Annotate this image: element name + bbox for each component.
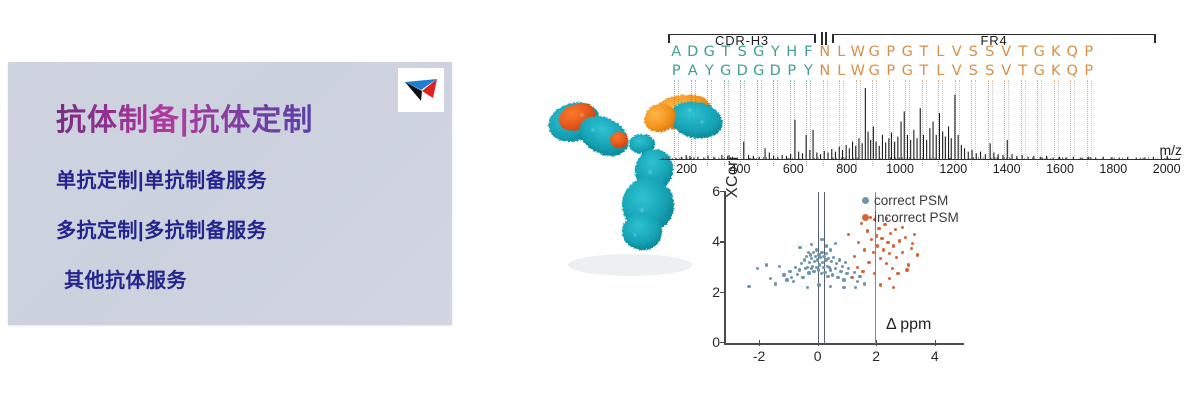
residue: W [850, 63, 867, 80]
residue: P [668, 63, 685, 80]
scatter-point-correct [841, 265, 844, 268]
scatter-point-correct [817, 268, 820, 271]
scatter-point-correct [844, 261, 847, 264]
xtick: 2 [872, 348, 880, 364]
scatter-point-incorrect [870, 238, 873, 241]
region-bracket-fr4: FR4 [832, 34, 1156, 44]
xtick: 1800 [1099, 162, 1127, 176]
scatter-point-correct [823, 271, 826, 274]
xtick: 1400 [993, 162, 1021, 176]
xtick: -2 [753, 348, 765, 364]
scatter-yticks: 0246 [690, 188, 720, 348]
xtick: 1000 [886, 162, 914, 176]
residue: D [767, 63, 784, 80]
scatter-point-correct [782, 273, 785, 276]
scatter-legend: correct PSM incorrect PSM [862, 192, 959, 226]
scatter-point-incorrect [904, 236, 907, 239]
scatter-point-correct [838, 258, 841, 261]
xtick: 4 [931, 348, 939, 364]
promo-item-monoclonal[interactable]: 单抗定制|单抗制备服务 [56, 169, 267, 193]
region-brackets: CDR-H3 FR4 [660, 18, 1180, 44]
promo-item-other-services[interactable]: 其他抗体服务 [64, 269, 187, 293]
residue: V [998, 44, 1015, 61]
scatter-point-correct [829, 268, 832, 271]
residue: D [734, 63, 751, 80]
residue: T [916, 63, 933, 80]
xtick: 1600 [1046, 162, 1074, 176]
scatter-plot: XCorr 0246 -2024 Δ ppm correct PSM incor… [690, 188, 970, 368]
scatter-point-correct [835, 262, 838, 265]
scatter-point-correct [769, 277, 772, 280]
ytick: 2 [712, 284, 720, 300]
residue: G [751, 63, 768, 80]
scatter-point-incorrect [911, 242, 914, 245]
scatter-point-incorrect [885, 262, 888, 265]
scatter-point-incorrect [898, 239, 901, 242]
scatter-point-correct [792, 280, 795, 283]
residue: P [1081, 63, 1098, 80]
scatter-point-correct [834, 267, 837, 270]
scatter-point-incorrect [889, 232, 892, 235]
scatter-point-correct [798, 268, 801, 271]
scatter-point-correct [785, 278, 788, 281]
residue: K [1048, 63, 1065, 80]
scatter-point-incorrect [856, 266, 859, 269]
residue: A [668, 44, 685, 61]
residue: T [916, 44, 933, 61]
scatter-point-correct [836, 276, 839, 279]
scatter-point-correct [806, 266, 809, 269]
legend-entry-correct: correct PSM [862, 192, 959, 209]
scatter-point-incorrect [916, 253, 919, 256]
scatter-point-correct [812, 270, 815, 273]
residue: S [982, 63, 999, 80]
legend-swatch-correct [862, 197, 869, 204]
scatter-point-incorrect [888, 277, 891, 280]
residue: G [701, 44, 718, 61]
xtick: 600 [783, 162, 804, 176]
residue: V [949, 44, 966, 61]
ytick: 6 [712, 183, 720, 199]
residue: Y [767, 44, 784, 61]
scatter-point-incorrect [879, 283, 882, 286]
sequence-alignment: CDR-H3 FR4 ADGTSGYHFNLWGPGTLVSSVTGKQP PA… [660, 18, 1180, 84]
page-title: 抗体制备|抗体定制 [56, 104, 313, 138]
mass-spectrum-plot: m/z [660, 84, 1180, 160]
scatter-point-incorrect [863, 248, 866, 251]
residue: F [800, 44, 817, 61]
scatter-point-correct [842, 278, 845, 281]
promo-item-polyclonal[interactable]: 多抗定制|多抗制备服务 [56, 219, 267, 243]
scatter-point-correct [805, 255, 808, 258]
scatter-point-correct [765, 263, 768, 266]
residue: G [751, 44, 768, 61]
scatter-point-correct [803, 258, 806, 261]
scatter-point-correct [810, 243, 813, 246]
scatter-point-incorrect [877, 227, 880, 230]
scatter-point-correct [834, 242, 837, 245]
scatter-point-correct [747, 285, 750, 288]
xtick: 800 [836, 162, 857, 176]
residue: S [734, 44, 751, 61]
scatter-point-correct [853, 271, 856, 274]
scatter-point-incorrect [886, 241, 889, 244]
residue: G [866, 44, 883, 61]
scatter-point-correct [830, 260, 833, 263]
residue: D [685, 44, 702, 61]
scatter-point-correct [808, 261, 811, 264]
scatter-xticks: -2024 [690, 346, 970, 366]
scatter-point-incorrect [901, 251, 904, 254]
sequence-row-2: PAYGDGDPYNLWGPGTLVSSVTGKQP [668, 63, 1097, 80]
scatter-point-incorrect [901, 226, 904, 229]
scatter-point-correct [796, 273, 799, 276]
residue: G [866, 63, 883, 80]
scatter-point-incorrect [892, 244, 895, 247]
screenshot-root: 抗体制备|抗体定制 单抗定制|单抗制备服务 多抗定制|多抗制备服务 其他抗体服务 [0, 0, 1200, 400]
scatter-point-incorrect [875, 234, 878, 237]
scatter-point-correct [831, 273, 834, 276]
promo-panel[interactable]: 抗体制备|抗体定制 单抗定制|单抗制备服务 多抗定制|多抗制备服务 其他抗体服务 [8, 62, 452, 325]
scatter-point-incorrect [895, 256, 898, 259]
residue: T [1015, 44, 1032, 61]
residue: T [1015, 63, 1032, 80]
residue: V [998, 63, 1015, 80]
region-bracket-cdr-h3: CDR-H3 [668, 34, 816, 44]
mass-spectrum-canvas [660, 84, 1180, 160]
scatter-point-incorrect [913, 233, 916, 236]
scatter-point-correct [798, 246, 801, 249]
residue: N [817, 44, 834, 61]
promo-panel-inner: 抗体制备|抗体定制 单抗定制|单抗制备服务 多抗定制|多抗制备服务 其他抗体服务 [8, 62, 452, 325]
scatter-point-correct [811, 265, 814, 268]
scatter-xlabel: Δ ppm [886, 316, 931, 334]
scatter-point-incorrect [882, 248, 885, 251]
residue: P [883, 44, 900, 61]
residue: Q [1064, 44, 1081, 61]
scatter-point-incorrect [880, 237, 883, 240]
scatter-point-correct [756, 267, 759, 270]
residue: L [932, 44, 949, 61]
scatter-point-correct [858, 275, 861, 278]
legend-label-correct: correct PSM [874, 193, 948, 208]
scatter-point-correct [856, 280, 859, 283]
scatter-point-correct [825, 244, 828, 247]
scatter-point-correct [826, 275, 829, 278]
scatter-point-incorrect [892, 286, 895, 289]
scatter-point-incorrect [867, 261, 870, 264]
scatter-point-correct [829, 285, 832, 288]
residue: S [982, 44, 999, 61]
residue: T [718, 44, 735, 61]
scatter-point-correct [807, 271, 810, 274]
scatter-point-incorrect [847, 233, 850, 236]
scatter-point-correct [847, 267, 850, 270]
scatter-point-correct [790, 276, 793, 279]
residue: G [1031, 44, 1048, 61]
residue: G [718, 63, 735, 80]
residue: S [965, 63, 982, 80]
scatter-point-correct [832, 256, 835, 259]
scatter-point-incorrect [896, 272, 899, 275]
sequence-row-1: ADGTSGYHFNLWGPGTLVSSVTGKQP [668, 44, 1097, 61]
legend-swatch-incorrect [862, 214, 869, 221]
legend-label-incorrect: incorrect PSM [874, 210, 959, 225]
residue: P [1081, 44, 1098, 61]
scatter-point-correct [863, 282, 866, 285]
scatter-point-correct [800, 262, 803, 265]
scatter-point-correct [778, 265, 781, 268]
xtick: 0 [814, 348, 822, 364]
residue: Y [701, 63, 718, 80]
scatter-point-incorrect [879, 257, 882, 260]
residue: G [899, 63, 916, 80]
scatter-point-incorrect [910, 247, 913, 250]
scatter-point-correct [806, 286, 809, 289]
residue: L [833, 63, 850, 80]
scatter-point-incorrect [905, 268, 908, 271]
residue: N [817, 63, 834, 80]
residue: G [899, 44, 916, 61]
xtick: 2000 [1153, 162, 1181, 176]
residue: V [949, 63, 966, 80]
xtick: 200 [676, 162, 697, 176]
scatter-point-incorrect [857, 241, 860, 244]
legend-entry-incorrect: incorrect PSM [862, 209, 959, 226]
scatter-point-correct [817, 283, 820, 286]
residue: H [784, 44, 801, 61]
residue: P [784, 63, 801, 80]
scatter-ylabel: XCorr [724, 155, 742, 198]
scatter-point-correct [825, 252, 828, 255]
scatter-point-correct [854, 286, 857, 289]
scatter-point-incorrect [891, 267, 894, 270]
scatter-point-correct [801, 276, 804, 279]
residue: A [685, 63, 702, 80]
scatter-point-correct [829, 248, 832, 251]
scatter-point-correct [839, 270, 842, 273]
scatter-point-incorrect [872, 251, 875, 254]
residue: Y [800, 63, 817, 80]
scientific-figure: CDR-H3 FR4 ADGTSGYHFNLWGPGTLVSSVTGKQP PA… [520, 0, 1200, 400]
scatter-point-incorrect [888, 252, 891, 255]
scatter-point-incorrect [861, 270, 864, 273]
residue: K [1048, 44, 1065, 61]
residue: L [833, 44, 850, 61]
scatter-point-incorrect [876, 244, 879, 247]
mass-spectrum-xlabel: m/z [1159, 142, 1182, 158]
scatter-point-incorrect [866, 229, 869, 232]
ytick: 4 [712, 233, 720, 249]
residue: Q [1064, 63, 1081, 80]
tri-color-chevron-logo [398, 68, 444, 112]
scatter-point-correct [820, 251, 823, 254]
residue: S [965, 44, 982, 61]
residue: P [883, 63, 900, 80]
residue: G [1031, 63, 1048, 80]
scatter-point-correct [788, 270, 791, 273]
scatter-y-axis [724, 192, 726, 344]
scatter-point-correct [842, 286, 845, 289]
scatter-point-incorrect [894, 228, 897, 231]
scatter-point-correct [794, 266, 797, 269]
scatter-point-correct [774, 282, 777, 285]
residue: W [850, 44, 867, 61]
scatter-point-incorrect [851, 276, 854, 279]
scatter-point-correct [845, 272, 848, 275]
xtick: 1200 [939, 162, 967, 176]
scatter-point-incorrect [907, 263, 910, 266]
residue: L [932, 63, 949, 80]
scatter-point-incorrect [853, 255, 856, 258]
